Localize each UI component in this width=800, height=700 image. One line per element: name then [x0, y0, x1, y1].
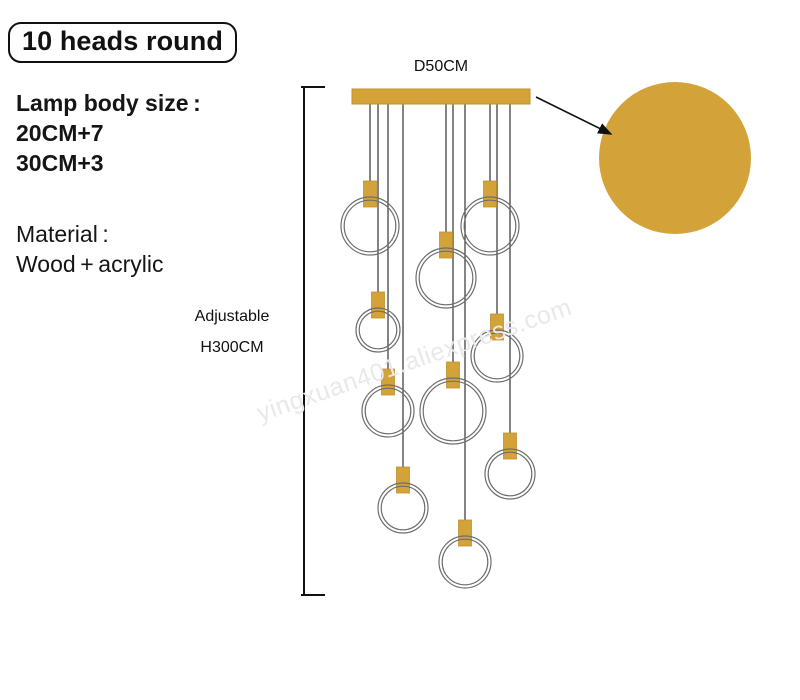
callout-arrow: [536, 97, 611, 134]
pendant-rings-group: [341, 181, 535, 588]
product-title-text: 10 heads round: [22, 27, 223, 56]
lamp-spec-diagram: 10 heads round Lamp body size : 20CM+7 3…: [0, 0, 800, 700]
pendant-socket: [484, 181, 497, 207]
pendant-ring-inner: [423, 381, 483, 441]
pendant-socket: [372, 292, 385, 318]
chandelier-illustration: [0, 0, 800, 700]
canopy-plate: [352, 89, 530, 104]
pendant-socket: [491, 314, 504, 340]
pendant-socket: [440, 232, 453, 258]
pendant-socket: [382, 369, 395, 395]
pendant-ring-inner: [464, 200, 516, 252]
pendant-socket: [459, 520, 472, 546]
callout-circle-swatch: [599, 82, 751, 234]
pendant-socket: [447, 362, 460, 388]
canopy-callout-group: [536, 82, 751, 234]
pendant-socket: [364, 181, 377, 207]
pendant-socket: [504, 433, 517, 459]
product-title-badge: 10 heads round: [8, 22, 237, 63]
pendant-socket: [397, 467, 410, 493]
ceiling-canopy-plate: [352, 89, 530, 104]
